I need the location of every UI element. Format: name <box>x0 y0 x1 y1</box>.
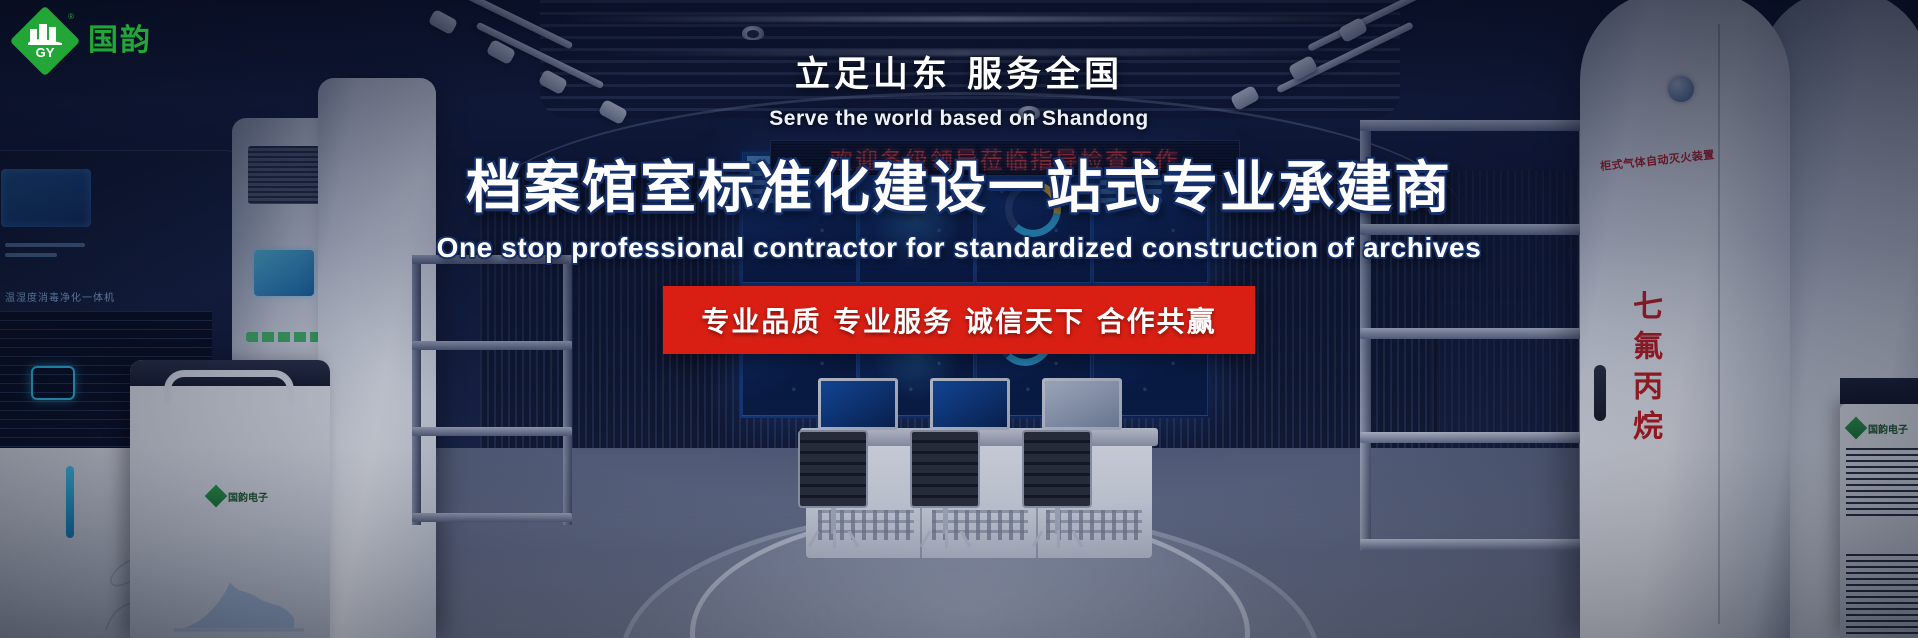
hero-banner: 欢迎各级领导莅临指导检查工作 <box>0 0 1918 638</box>
page-subtitle: One stop professional contractor for sta… <box>0 232 1918 264</box>
slogan-banner[interactable]: 专业品质 专业服务 诚信天下 合作共赢 <box>663 286 1254 354</box>
page-title: 档案馆室标准化建设一站式专业承建商 <box>0 143 1918 224</box>
headline-block: 立足山东 服务全国 Serve the world based on Shand… <box>0 0 1918 354</box>
tagline-en: Serve the world based on Shandong <box>0 107 1918 131</box>
tagline-cn: 立足山东 服务全国 <box>0 46 1918 97</box>
hero-text-overlay: GY ® 国韵 立足山东 服务全国 Serve the world based … <box>0 0 1918 638</box>
